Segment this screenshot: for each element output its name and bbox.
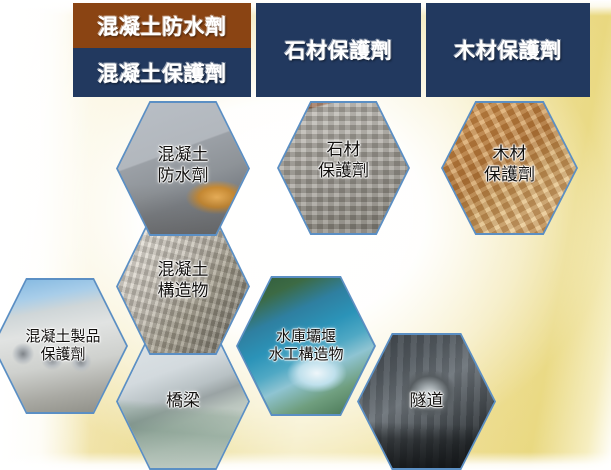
banner-segment-concrete-protect[interactable]: 混凝土保護劑 (73, 48, 251, 97)
banner-wood-agent[interactable]: 木材保護劑 (426, 3, 590, 97)
banner-label-concrete-protect: 混凝土保護劑 (98, 58, 227, 88)
banner-label-concrete-waterproof: 混凝土防水劑 (98, 11, 227, 41)
banner-label-wood-protect: 木材保護劑 (454, 35, 562, 65)
background-bottom-fade (0, 452, 611, 470)
banner-segment-wood-protect[interactable]: 木材保護劑 (426, 3, 590, 97)
banner-segment-stone-protect[interactable]: 石材保護劑 (256, 3, 421, 97)
banner-stone-agent[interactable]: 石材保護劑 (256, 3, 421, 97)
banner-label-stone-protect: 石材保護劑 (285, 35, 393, 65)
banner-segment-concrete-waterproof[interactable]: 混凝土防水劑 (73, 3, 251, 48)
diagram-canvas: 混凝土防水劑 混凝土保護劑 石材保護劑 木材保護劑 橋梁 隧道 混凝土製品 保護… (0, 0, 611, 470)
banner-concrete-agents[interactable]: 混凝土防水劑 混凝土保護劑 (73, 3, 251, 97)
